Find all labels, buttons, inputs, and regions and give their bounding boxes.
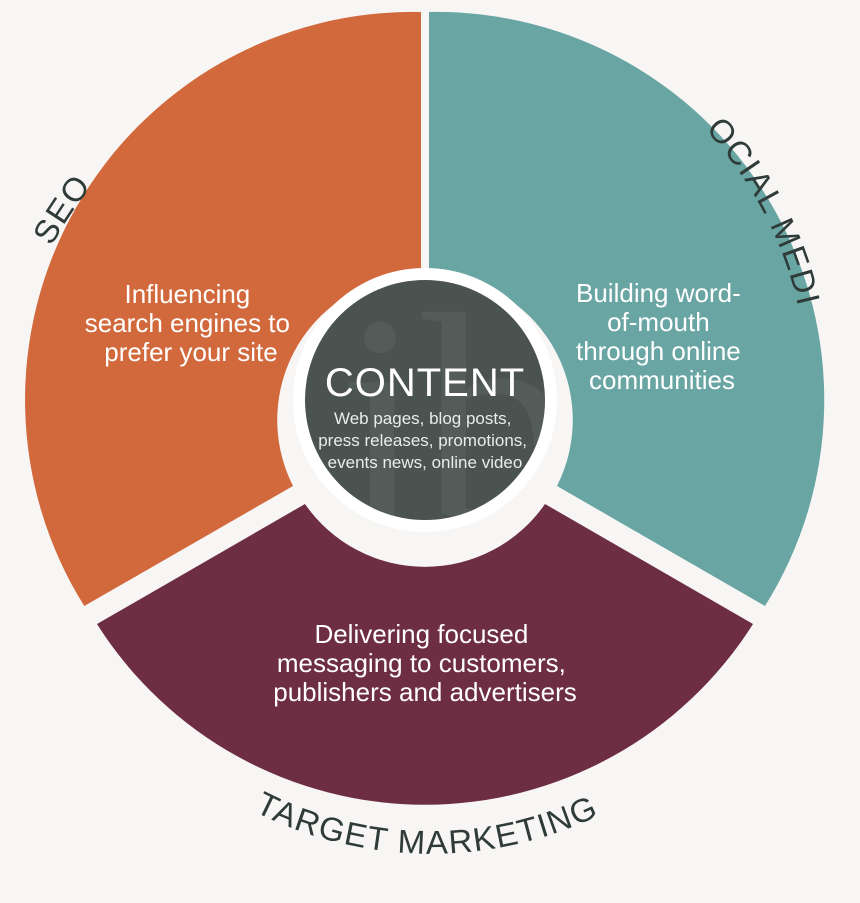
segment-target-marketing-line-0: Delivering focused <box>314 619 528 649</box>
segment-seo-line-1: search engines to <box>85 308 290 338</box>
center-hub-description-line-0: Web pages, blog posts, <box>334 409 511 428</box>
center-hub-description-line-2: events news, online video <box>328 453 523 472</box>
segment-social-media-line-0: Building word- <box>576 278 741 308</box>
segment-social-media-line-2: through online <box>576 336 741 366</box>
center-hub-description-line-1: press releases, promotions, <box>318 431 527 450</box>
segment-seo-line-2: prefer your site <box>104 337 277 367</box>
segment-target-marketing-body: Delivering focused messaging to customer… <box>273 619 577 707</box>
center-hub-description: Web pages, blog posts, press releases, p… <box>318 409 532 472</box>
segment-target-marketing-line-2: publishers and advertisers <box>273 677 577 707</box>
segment-target-marketing[interactable]: Delivering focused messaging to customer… <box>97 504 753 805</box>
center-hub-title: CONTENT <box>325 361 525 405</box>
segment-social-media-body: Building word- of-mouth through online c… <box>576 278 748 395</box>
content-marketing-wheel-diagram: Influencing search engines to prefer you… <box>0 0 860 903</box>
segment-seo-line-0: Influencing <box>125 279 251 309</box>
segment-target-marketing-line-1: messaging to customers, <box>277 648 566 678</box>
segment-social-media-line-1: of-mouth <box>607 307 710 337</box>
segment-social-media-line-3: communities <box>589 365 735 395</box>
